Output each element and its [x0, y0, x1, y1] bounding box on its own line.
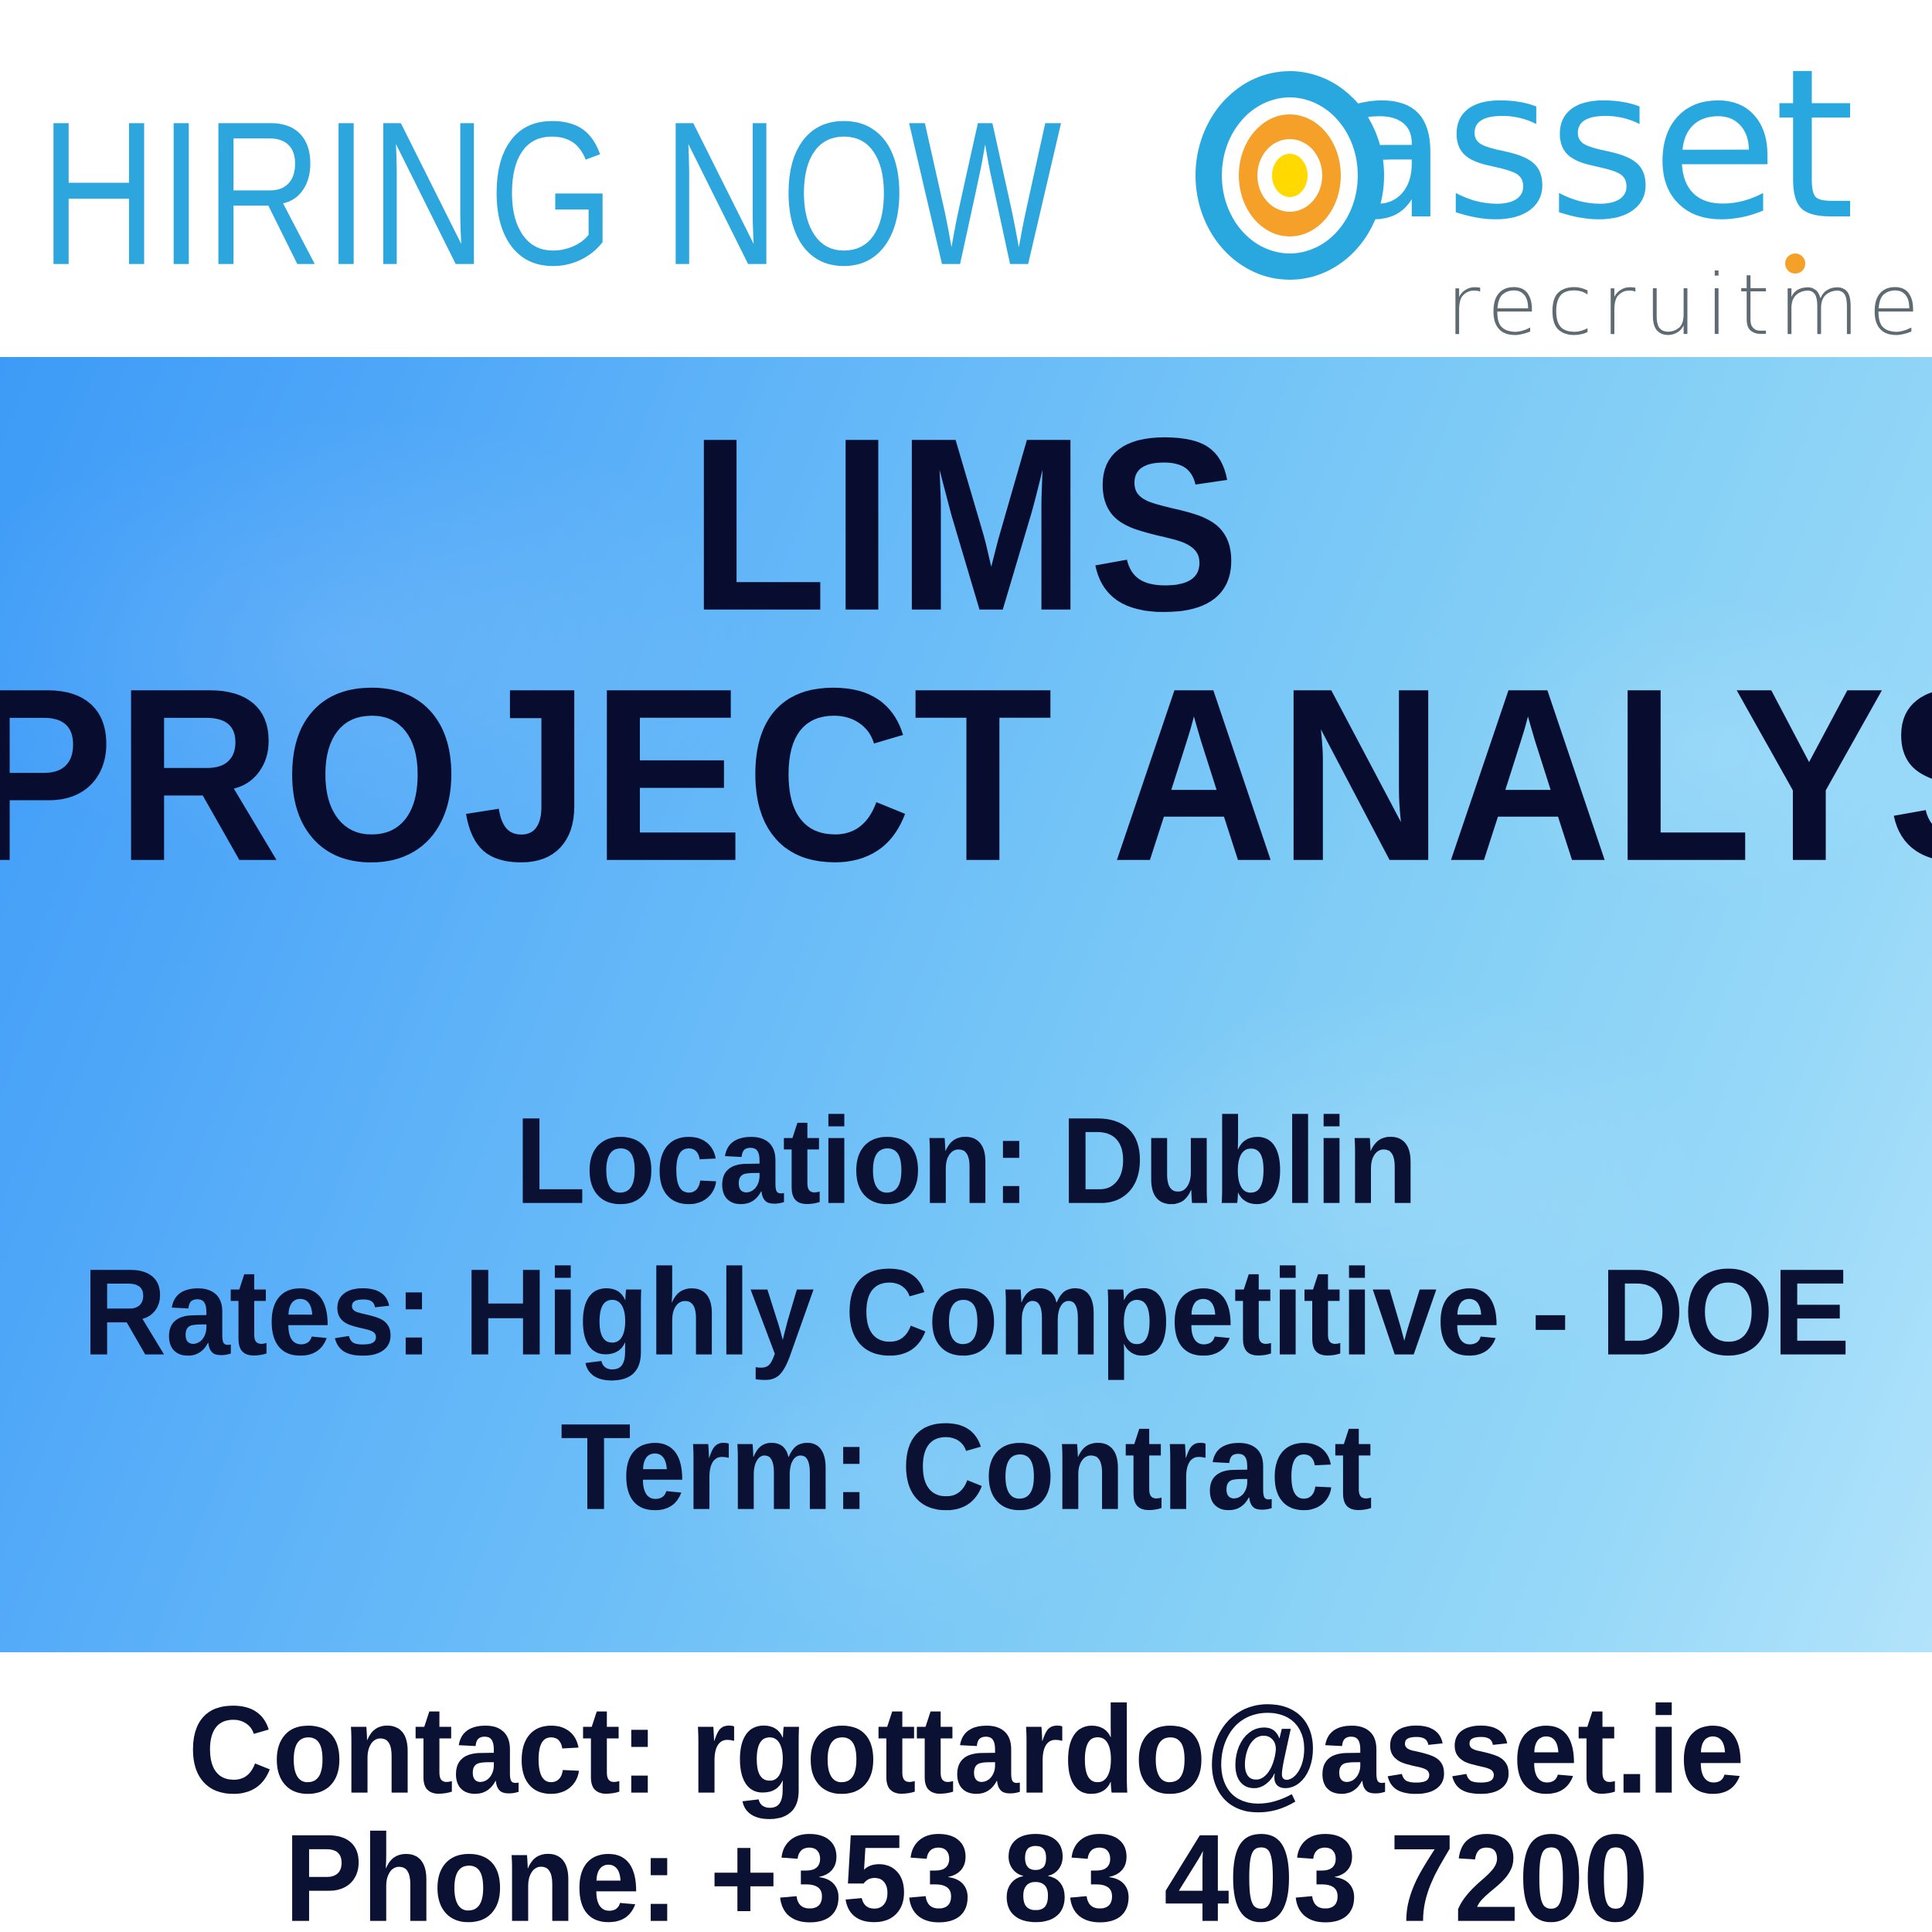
job-title-line-2: PROJECT ANALYST [0, 652, 1932, 899]
contact-email-line[interactable]: Contact: rgottardo@asset.ie [0, 1688, 1932, 1812]
asset-recruitment-logo: asset recruitment [1217, 70, 1897, 332]
poster-header: HIRING NOW asset recruitment [0, 0, 1932, 357]
logo-brand-text: asset [1322, 42, 1850, 249]
job-advert-poster: HIRING NOW asset recruitment LIMS PROJEC… [0, 0, 1932, 1932]
logo-tagline-text: recruitment [1446, 264, 1932, 348]
job-detail-term: Term: Contract [0, 1405, 1932, 1528]
contact-phone-line[interactable]: Phone: +353 83 403 7200 [0, 1816, 1932, 1932]
job-detail-rates: Rates: Highly Competitive - DOE [0, 1250, 1932, 1373]
hiring-now-headline: HIRING NOW [40, 91, 1063, 296]
target-bullseye-icon [1239, 114, 1341, 236]
poster-footer: Contact: rgottardo@asset.ie Phone: +353 … [0, 1652, 1932, 1932]
logo-wordmark: asset [1217, 70, 1897, 263]
job-detail-location: Location: Dublin [0, 1099, 1932, 1222]
job-title-line-1: LIMS [0, 402, 1932, 648]
orange-dot-icon [1785, 253, 1805, 274]
poster-body-band: LIMS PROJECT ANALYST Location: Dublin Ra… [0, 357, 1932, 1652]
